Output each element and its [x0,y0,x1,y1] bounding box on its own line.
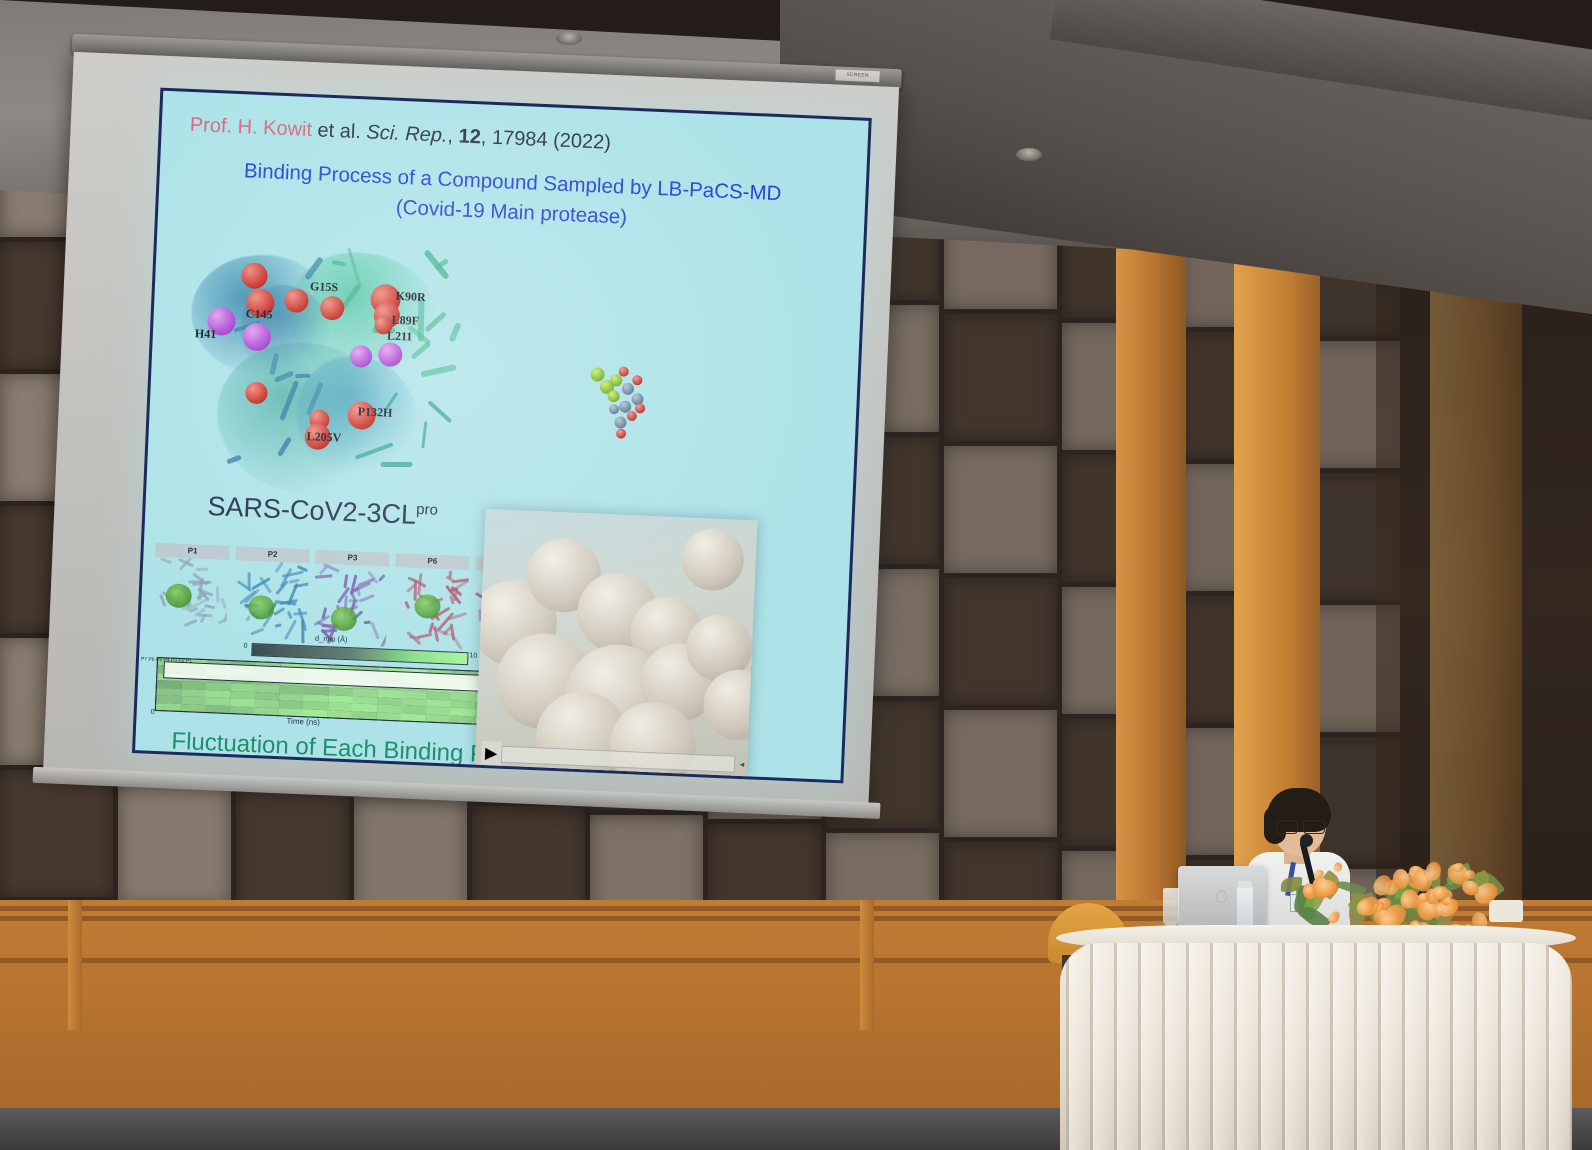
wall-panel [944,710,1057,837]
ligand-molecule [586,357,651,440]
ribbon-strand [421,421,427,448]
pose-panel-image [152,557,229,640]
video-progress-bar[interactable] [501,745,736,772]
citation-author: Prof. H. Kowit [189,114,312,141]
wall-panel [944,446,1057,573]
ligand-atom [607,390,620,403]
citation-etal: et al. [312,119,367,143]
flower-petal [1333,862,1342,873]
pillar-left [1116,196,1186,926]
heatmap-x-min: 0 [151,709,155,716]
flower-petal [1417,892,1429,902]
water-bottle [1237,885,1253,929]
heatmap-x-label: Time (ns) [286,717,320,727]
protein-caption: SARS-CoV2-3CLpro [207,491,438,532]
projection-screen: SCREEN Prof. H. Kowit et al. Sci. Rep., … [23,25,895,820]
pose-panel-image [232,560,309,643]
residue-label-l89f: L89F [391,313,419,329]
ribbon-strand [295,373,310,377]
colorbar-min-label: 0 [243,643,247,650]
ligand-atom [590,367,605,382]
slide-citation: Prof. H. Kowit et al. Sci. Rep., 12, 179… [189,114,611,155]
slide-heading: Binding Process of a Compound Sampled by… [158,153,866,243]
residue-label-l205v: L205V [306,429,341,445]
wall-panel [944,578,1057,705]
ligand-atom [622,383,635,396]
wall-panel [944,314,1057,441]
wall-panel [118,779,231,906]
downlight-1 [556,32,582,45]
video-play-button[interactable]: ▶ [481,741,502,766]
wall-panel [236,788,349,915]
embedded-video-panel[interactable] [475,509,758,778]
table-skirt [1060,943,1572,1150]
ribbon-strand [449,322,462,342]
molecular-surface-blob [680,527,745,592]
drinking-glass [1163,888,1179,926]
ligand-atom [635,403,645,413]
pose-panel-image [392,567,469,650]
citation-journal: Sci. Rep. [366,121,448,146]
downlight-3 [1016,148,1042,161]
ligand-atom [627,411,637,421]
screen-brand-label: SCREEN [835,69,879,82]
ligand-atom [609,404,619,414]
protein-structure-figure: H41C145G15SK90RL89FL211P132HL205V [185,242,475,494]
speaker-glasses [1276,820,1324,832]
citation-volume: 12 [458,125,481,148]
water-bottle-cap [1238,881,1252,888]
protein-caption-sup: pro [416,501,438,519]
flower-petal [1393,868,1409,888]
colorbar-max-label: 10 [469,652,477,659]
wall-panel [0,770,113,897]
heatmap-y-ticks: P7 P6 P5 P4 P3 P2 P1 [141,656,192,665]
ligand-atom [618,366,628,376]
ligand-atom [614,416,627,429]
ligand-atom [616,428,626,438]
residue-label-l211: L211 [387,328,413,344]
volume-icon[interactable]: ◂ [735,758,749,770]
residue-label-p132h: P132H [357,404,392,420]
ribbon-strand [428,400,453,423]
residue-label-k90r: K90R [395,289,426,305]
ligand-atom [632,375,642,385]
tissue-box [1489,900,1523,922]
ribbon-strand [420,364,457,377]
residue-label-g15s: G15S [310,279,339,295]
laptop-logo [1216,890,1227,903]
lecture-hall-photo: SCREEN Prof. H. Kowit et al. Sci. Rep., … [0,0,1592,1150]
residue-label-c145: C145 [246,306,273,322]
residue-label-h41: H41 [195,326,217,342]
ribbon-strand [381,462,413,467]
speaker-table [1056,925,1576,1150]
protein-caption-text: SARS-CoV2-3CL [207,491,417,530]
citation-pages: , 17984 (2022) [480,126,611,154]
skirt-pleat-highlight [1549,943,1572,1150]
presentation-slide: Prof. H. Kowit et al. Sci. Rep., 12, 179… [132,88,872,784]
colorbar-label: d_min (Å) [315,634,348,644]
skirt-pleat [1570,943,1572,1150]
